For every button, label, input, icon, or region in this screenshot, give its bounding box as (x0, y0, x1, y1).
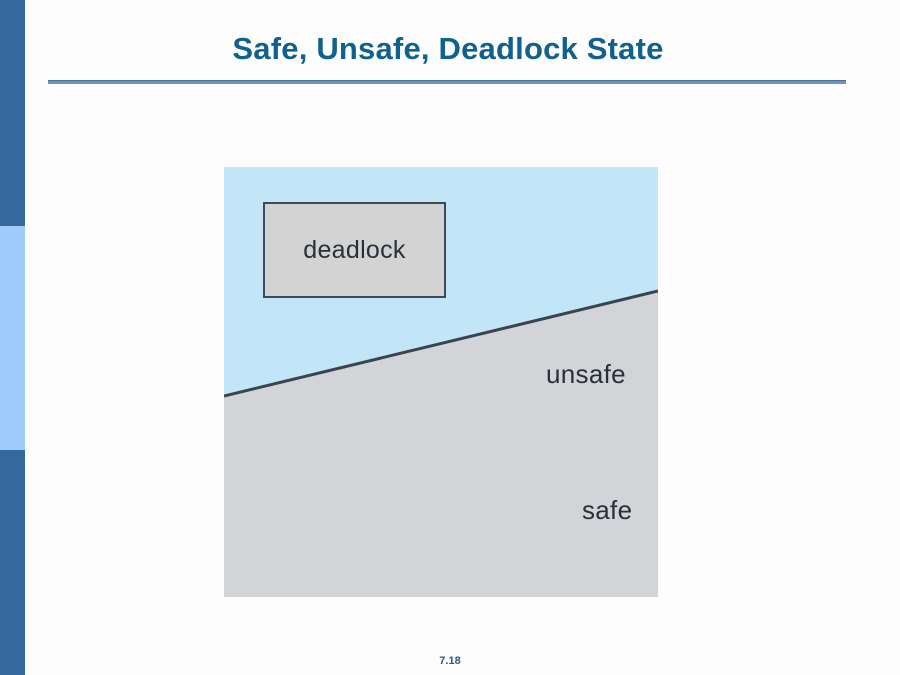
sidebar-segment-dark-top (0, 0, 25, 226)
left-sidebar-decoration (0, 0, 25, 675)
sidebar-segment-light-middle (0, 226, 25, 450)
safe-region-label: safe (582, 495, 632, 526)
sidebar-segment-dark-bottom (0, 450, 25, 675)
title-divider (48, 80, 846, 84)
title-block: Safe, Unsafe, Deadlock State (48, 30, 848, 68)
unsafe-region-label: unsafe (546, 359, 626, 390)
page-number: 7.18 (0, 655, 900, 667)
page-title: Safe, Unsafe, Deadlock State (48, 30, 848, 68)
state-diagram: deadlock unsafe safe (224, 167, 658, 597)
deadlock-label: deadlock (265, 204, 444, 296)
deadlock-box: deadlock (263, 202, 446, 298)
